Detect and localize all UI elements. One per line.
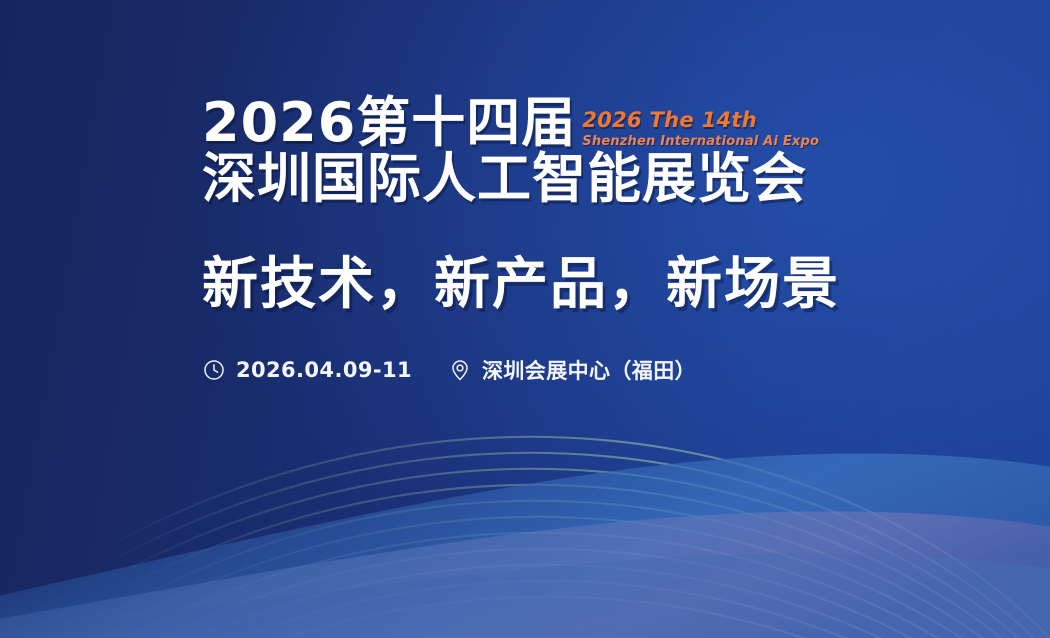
banner-slogan: 新技术，新产品，新场景 [202, 256, 902, 315]
event-date-text: 2026.04.09-11 [236, 358, 412, 382]
meta-item-date: 2026.04.09-11 [202, 358, 412, 382]
event-venue-text: 深圳会展中心（福田） [482, 355, 696, 385]
banner-meta-row: 2026.04.09-11 深圳会展中心（福田） [202, 355, 902, 385]
title-english-block: 2026 The 14thShenzhen International Ai E… [582, 108, 819, 150]
title-line-1-row: 2026第十四届2026 The 14thShenzhen Internatio… [202, 96, 902, 150]
title-chinese-line-1: 2026第十四届 [202, 96, 576, 150]
location-pin-icon [448, 358, 472, 382]
event-banner: 2026第十四届2026 The 14thShenzhen Internatio… [0, 0, 1050, 638]
banner-content: 2026第十四届2026 The 14thShenzhen Internatio… [202, 96, 902, 385]
title-english-line-1: 2026 The 14th [582, 108, 819, 132]
title-chinese-line-2: 深圳国际人工智能展览会 [202, 152, 902, 206]
meta-item-venue: 深圳会展中心（福田） [448, 355, 696, 385]
clock-icon [202, 358, 226, 382]
title-english-line-2: Shenzhen International Ai Expo [582, 135, 819, 150]
